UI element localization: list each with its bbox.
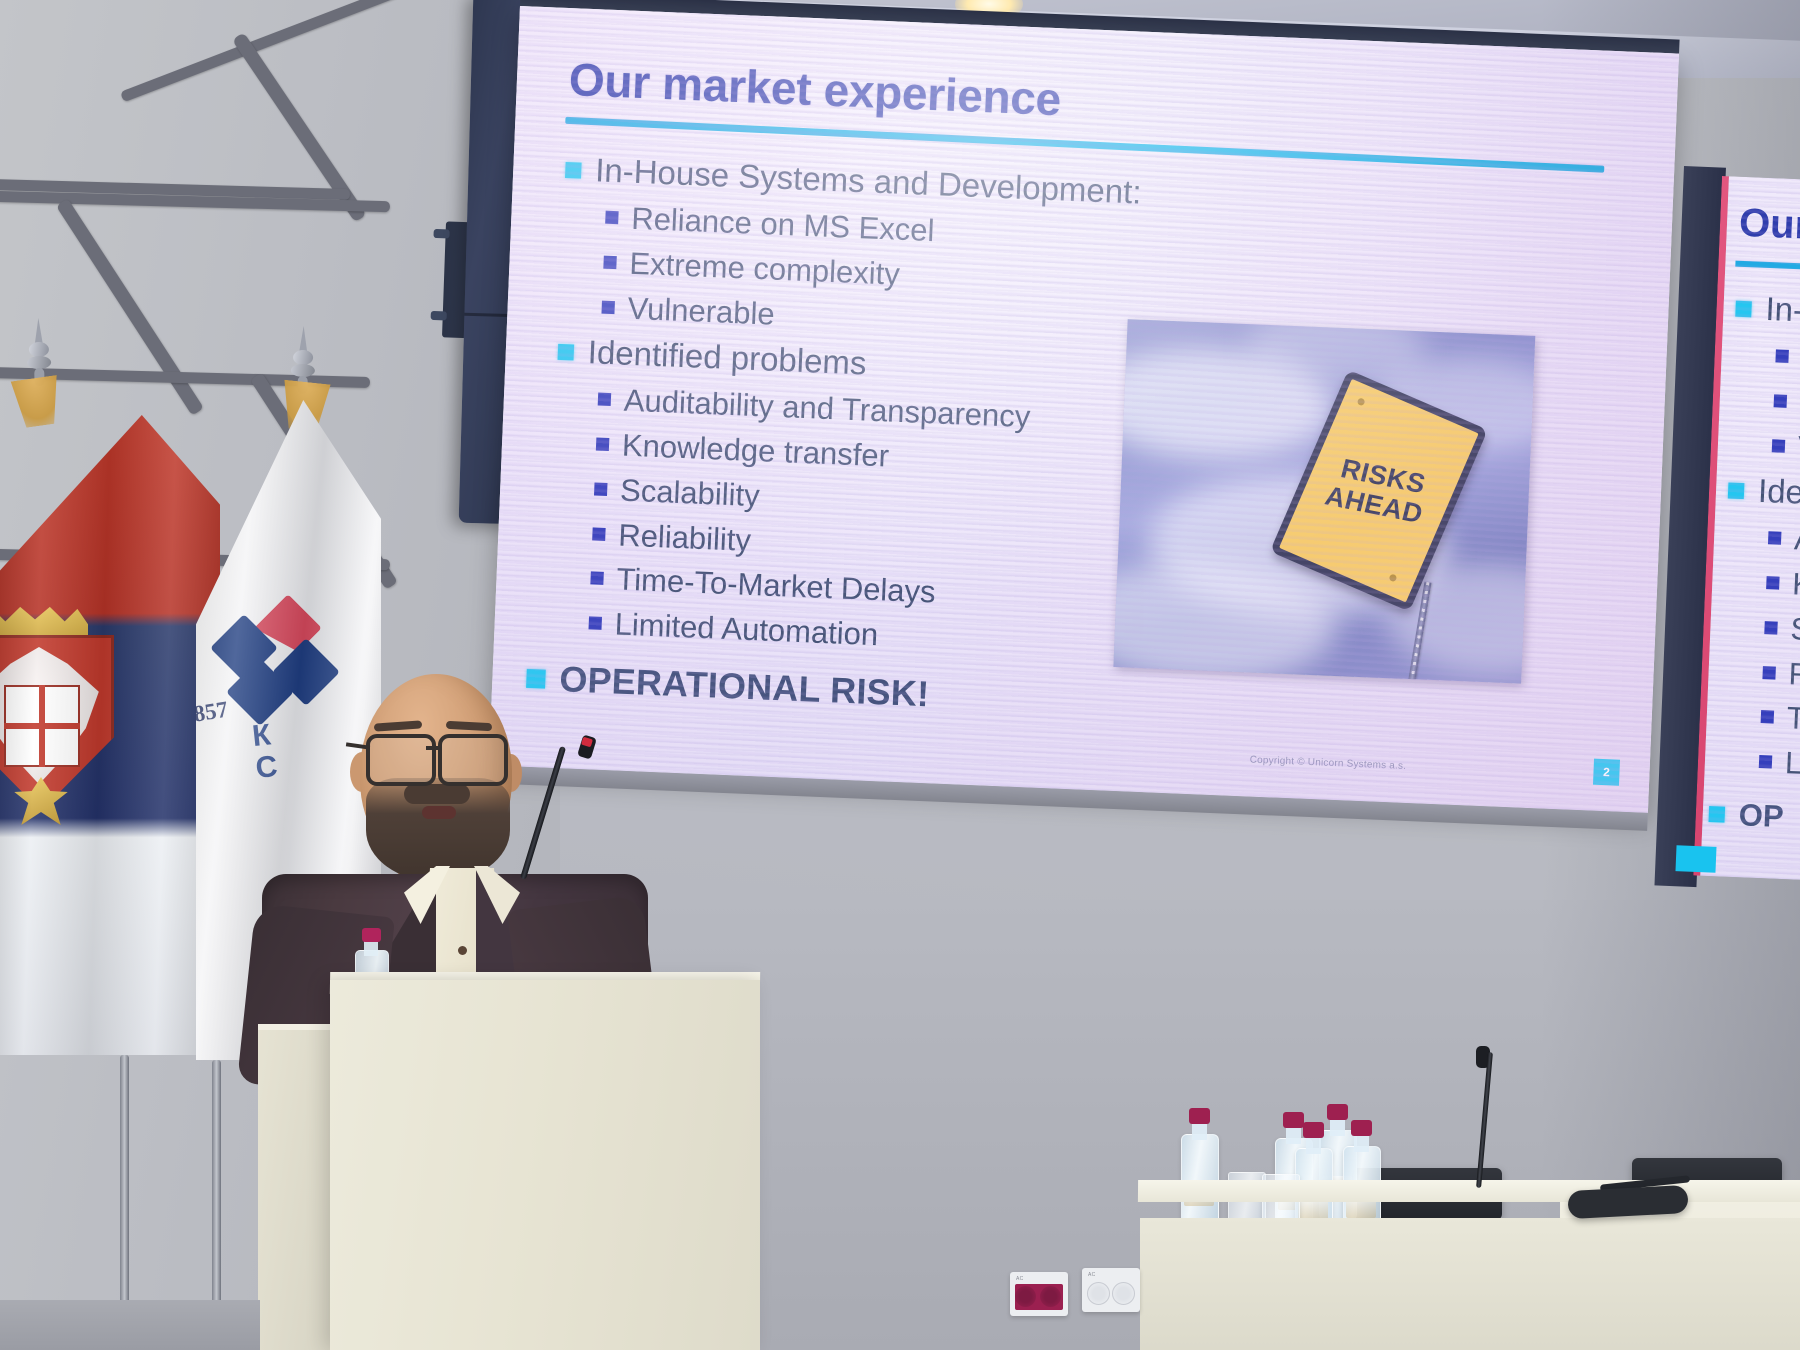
second-bullet-list: In-H R E V Ide A K S R T L — [1716, 287, 1800, 794]
shirt-button — [458, 946, 467, 955]
bullet-text: S — [1790, 609, 1800, 649]
bullet-text: Reliability — [618, 515, 752, 560]
bullet-item: E — [1773, 381, 1800, 428]
second-operational-risk-text: OP — [1738, 797, 1784, 835]
podium-side-panel — [258, 1030, 338, 1350]
cyan-square-bullet-icon — [1709, 806, 1726, 823]
bullet-text: R — [1788, 654, 1800, 695]
second-slide-title: Our — [1738, 201, 1800, 249]
blue-square-bullet-icon — [603, 256, 617, 270]
bullet-text: L — [1784, 743, 1800, 783]
wall-groove — [120, 0, 404, 102]
bullet-item: A — [1767, 519, 1800, 566]
blue-square-bullet-icon — [1759, 755, 1773, 769]
podium-lectern — [330, 980, 760, 1350]
bullet-item: K — [1766, 563, 1800, 610]
screen-surface: Our market experience In-House Systems a… — [489, 6, 1679, 813]
second-screen-page-box — [1675, 845, 1716, 873]
bracket-bolt — [431, 311, 447, 321]
power-outlet-red: AC — [1010, 1272, 1068, 1316]
bullet-item: L — [1758, 742, 1800, 789]
blue-square-bullet-icon — [1766, 576, 1780, 590]
slide-page-number: 2 — [1593, 759, 1620, 786]
floor — [0, 1300, 260, 1350]
second-operational-risk-callout: OP — [1708, 796, 1784, 835]
blue-square-bullet-icon — [601, 300, 615, 314]
bullet-text: Time-To-Market Delays — [616, 560, 937, 613]
socket — [1040, 1286, 1061, 1307]
socket — [1015, 1286, 1036, 1307]
blue-square-bullet-icon — [594, 482, 608, 496]
bullet-text: K — [1792, 564, 1800, 604]
projection-screen: Our market experience In-House Systems a… — [488, 6, 1679, 843]
glasses-lens — [366, 734, 436, 786]
slide-title: Our market experience — [568, 52, 1062, 126]
presentation-slide: Our market experience In-House Systems a… — [489, 6, 1679, 813]
bullet-text: Scalability — [619, 470, 760, 515]
bullet-text: Vulnerable — [627, 288, 776, 334]
table-front-panel — [1140, 1218, 1800, 1350]
glasses-lens — [438, 734, 508, 786]
bullet-text: Extreme complexity — [629, 244, 901, 295]
blue-square-bullet-icon — [1764, 621, 1778, 635]
blue-square-bullet-icon — [1775, 350, 1789, 364]
blue-square-bullet-icon — [592, 527, 606, 541]
socket — [1112, 1282, 1135, 1305]
bullet-text: Knowledge transfer — [621, 426, 890, 477]
bullet-text: In-H — [1765, 288, 1800, 333]
water-bottle — [1178, 1108, 1220, 1224]
outlet-label: AC — [1016, 1276, 1024, 1282]
moustache — [404, 784, 470, 804]
bullet-item: T — [1760, 697, 1800, 744]
table-top-surface — [1138, 1180, 1800, 1202]
cyan-square-bullet-icon — [558, 344, 575, 361]
bullet-text: Ide — [1757, 470, 1800, 514]
bullet-item: In-H — [1735, 287, 1800, 338]
outlet-label: AC — [1088, 1272, 1096, 1278]
slide-footer-copyright: Copyright © Unicorn Systems a.s. — [1249, 755, 1406, 772]
mouth — [422, 806, 456, 819]
power-outlet-white: AC — [1082, 1268, 1140, 1312]
bullet-item: S — [1764, 608, 1800, 655]
bullet-text: A — [1793, 520, 1800, 560]
bullet-item: R — [1762, 653, 1800, 700]
conference-room-photo: Our market experience In-House Systems a… — [0, 0, 1800, 1350]
bottle-neck — [364, 940, 378, 956]
socket — [1087, 1282, 1110, 1305]
blue-square-bullet-icon — [598, 393, 612, 407]
blue-square-bullet-icon — [1768, 532, 1782, 546]
slide-bullet-list: In-House Systems and Development: Relian… — [546, 148, 1206, 672]
bullet-item: Ide — [1727, 469, 1800, 520]
bullet-text: T — [1786, 698, 1800, 738]
blue-square-bullet-icon — [1774, 394, 1788, 408]
cyan-square-bullet-icon — [565, 162, 582, 179]
bullet-text: Limited Automation — [614, 604, 879, 654]
second-title-rule — [1735, 261, 1800, 275]
bullet-text: Reliance on MS Excel — [631, 199, 936, 251]
bullet-item: V — [1771, 426, 1800, 473]
blue-square-bullet-icon — [605, 211, 619, 225]
blue-square-bullet-icon — [589, 616, 603, 630]
cyan-square-bullet-icon — [1728, 483, 1745, 500]
glasses-bridge — [426, 746, 442, 750]
blue-square-bullet-icon — [1761, 710, 1775, 724]
cyan-square-bullet-icon — [1735, 301, 1752, 318]
risks-ahead-image: RISKS AHEAD — [1113, 319, 1535, 683]
bullet-item: R — [1775, 337, 1800, 384]
bracket-bolt — [433, 229, 449, 239]
blue-square-bullet-icon — [1772, 439, 1786, 453]
blue-square-bullet-icon — [590, 572, 604, 586]
blue-square-bullet-icon — [1762, 666, 1776, 680]
bottle-cap — [362, 928, 381, 942]
bullet-text: Identified problems — [587, 331, 867, 385]
blue-square-bullet-icon — [596, 438, 610, 452]
